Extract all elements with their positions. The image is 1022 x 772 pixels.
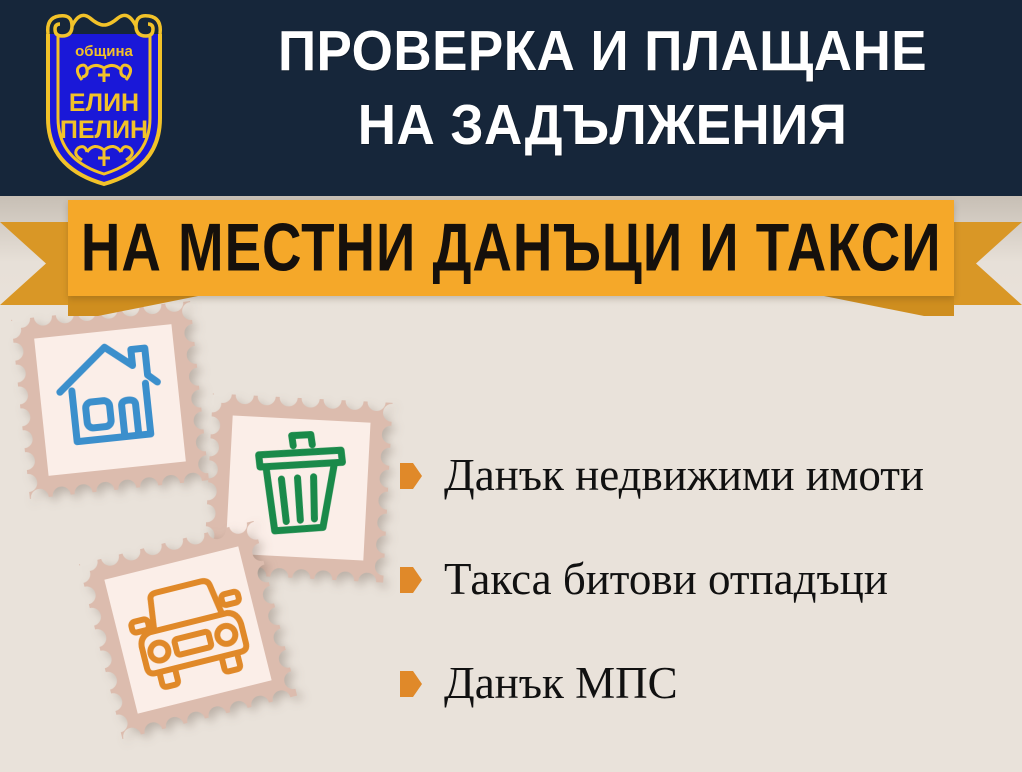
list-item[interactable]: Данък недвижими имоти xyxy=(400,424,1010,528)
list-item-label: Данък МПС xyxy=(444,660,678,707)
house-stamp-graphic xyxy=(11,301,209,499)
arrow-bullet-icon xyxy=(400,671,422,697)
list-item-label: Данък недвижими имоти xyxy=(444,452,924,499)
ribbon-main-panel: НА МЕСТНИ ДАНЪЦИ И ТАКСИ xyxy=(68,200,954,296)
logo-name-line2: ПЕЛИН xyxy=(60,116,148,144)
list-item[interactable]: Данък МПС xyxy=(400,632,1010,736)
coat-of-arms-icon: община ЕЛИН ПЕЛИН xyxy=(28,8,180,188)
page-title: ПРОВЕРКА И ПЛАЩАНЕ НА ЗАДЪЛЖЕНИЯ xyxy=(214,14,991,162)
logo-name-line1: ЕЛИН xyxy=(69,89,139,117)
header-banner: община ЕЛИН ПЕЛИН xyxy=(0,0,1022,196)
ribbon-text: НА МЕСТНИ ДАНЪЦИ И ТАКСИ xyxy=(81,209,942,287)
services-list: Данък недвижими имоти Такса битови отпад… xyxy=(400,424,1010,736)
list-item-label: Такса битови отпадъци xyxy=(444,556,888,603)
arrow-bullet-icon xyxy=(400,567,422,593)
poster-canvas: община ЕЛИН ПЕЛИН xyxy=(0,0,1022,772)
page-title-line1: ПРОВЕРКА И ПЛАЩАНЕ xyxy=(214,14,991,88)
list-item[interactable]: Такса битови отпадъци xyxy=(400,528,1010,632)
page-title-line2: НА ЗАДЪЛЖЕНИЯ xyxy=(214,88,991,162)
municipality-logo: община ЕЛИН ПЕЛИН xyxy=(28,8,180,188)
stamp-house xyxy=(11,301,209,499)
logo-top-text: община xyxy=(75,43,133,60)
arrow-bullet-icon xyxy=(400,463,422,489)
